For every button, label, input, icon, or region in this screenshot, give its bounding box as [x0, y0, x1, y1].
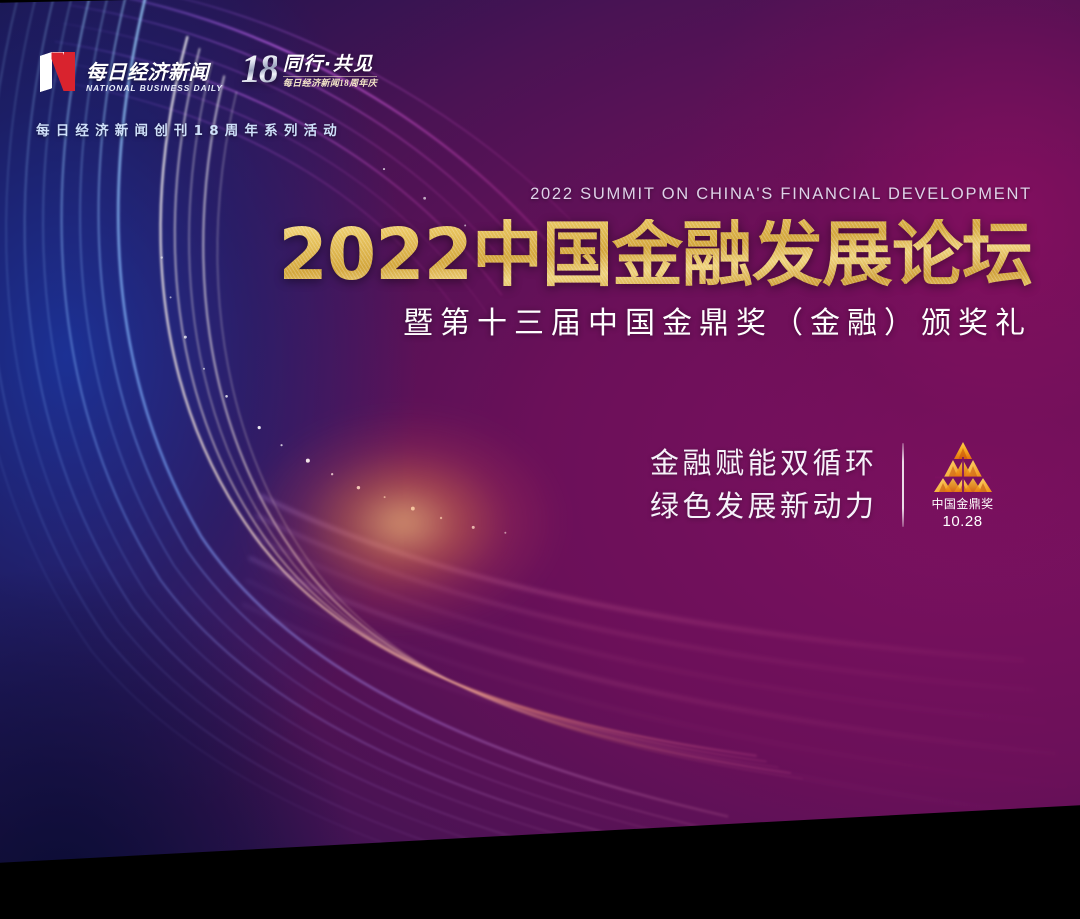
- slogan-block: 金融赋能双循环 绿色发展新动力: [650, 440, 994, 531]
- award-name: 中国金鼎奖: [932, 497, 994, 511]
- title-chinese-sub: 暨第十三届中国金鼎奖（金融）颁奖礼: [278, 307, 1032, 340]
- poster-content: 每日经济新闻 NATIONAL BUSINESS DAILY 18 同行·共见 …: [0, 0, 1080, 919]
- header-logo-row: 每日经济新闻 NATIONAL BUSINESS DAILY 18 同行·共见 …: [38, 50, 377, 93]
- series-activity-line: 每日经济新闻创刊18周年系列活动: [36, 119, 343, 139]
- anniversary-number: 18: [241, 51, 277, 86]
- nbd-name-en: NATIONAL BUSINESS DAILY: [86, 84, 223, 93]
- award-date: 10.28: [943, 514, 983, 531]
- slogan-line-2: 绿色发展新动力: [650, 492, 878, 521]
- title-chinese: 2022中国金融发展论坛: [278, 219, 1032, 291]
- nbd-name-cn: 每日经济新闻: [86, 62, 223, 83]
- nbd-wordmark: 每日经济新闻 NATIONAL BUSINESS DAILY: [86, 62, 223, 94]
- nbd-monogram-icon: [38, 50, 77, 93]
- slogan-line-1: 金融赋能双循环: [650, 449, 878, 478]
- award-emblem-block: 中国金鼎奖 10.28: [932, 440, 994, 531]
- anniversary-slogan: 同行·共见: [283, 55, 377, 74]
- anniversary-logo: 18 同行·共见 每日经济新闻18周年庆: [241, 50, 377, 88]
- golden-tripod-pyramid-icon: [933, 440, 993, 494]
- slogan-divider: [902, 443, 904, 527]
- anniversary-caption: 每日经济新闻18周年庆: [283, 76, 377, 88]
- slogan-lines: 金融赋能双循环 绿色发展新动力: [650, 449, 878, 521]
- main-title-block: 2022 SUMMIT ON CHINA'S FINANCIAL DEVELOP…: [278, 186, 1032, 340]
- nbd-brand-logo: 每日经济新闻 NATIONAL BUSINESS DAILY: [38, 50, 223, 93]
- poster-canvas: 每日经济新闻 NATIONAL BUSINESS DAILY 18 同行·共见 …: [0, 0, 1080, 919]
- title-english: 2022 SUMMIT ON CHINA'S FINANCIAL DEVELOP…: [278, 186, 1032, 203]
- anniversary-text-group: 同行·共见 每日经济新闻18周年庆: [283, 51, 377, 88]
